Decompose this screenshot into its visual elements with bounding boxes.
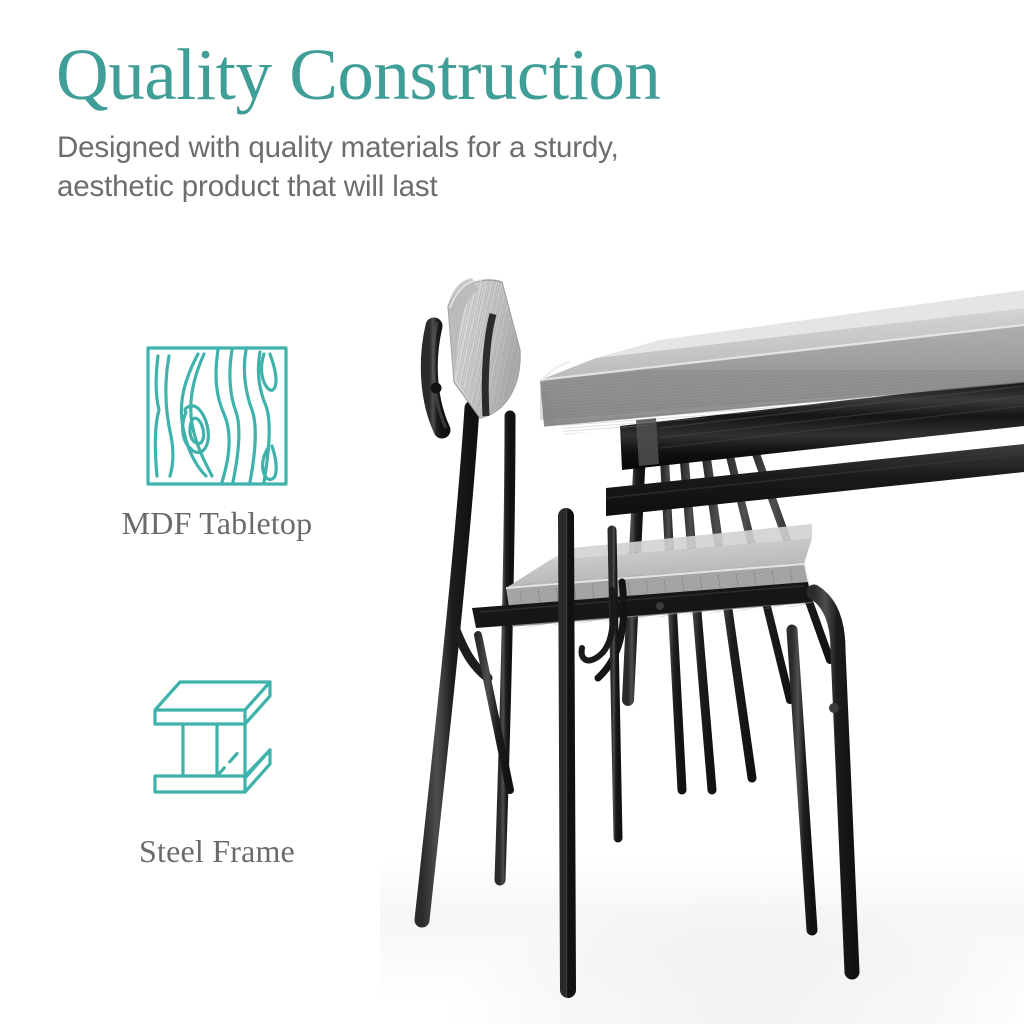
- feature-label-steel-frame: Steel Frame: [67, 834, 367, 869]
- wood-grain-icon-wrap: [67, 340, 367, 490]
- page-subtitle: Designed with quality materials for a st…: [57, 128, 619, 206]
- feature-steel-frame: Steel Frame: [67, 668, 367, 869]
- page-title: Quality Construction: [56, 38, 660, 111]
- i-beam-icon-wrap: [67, 668, 367, 818]
- feature-mdf-tabletop: MDF Tabletop: [67, 340, 367, 541]
- wood-grain-icon: [142, 340, 292, 490]
- i-beam-icon: [137, 668, 297, 818]
- infographic-page: Quality Construction Designed with quali…: [0, 0, 1024, 1024]
- product-photo: [360, 230, 1024, 1020]
- chair-rear-leg: [422, 408, 510, 920]
- feature-label-mdf-tabletop: MDF Tabletop: [67, 506, 367, 541]
- product-photo-illustration: [360, 230, 1024, 1020]
- chair-seat-panel: [500, 524, 830, 640]
